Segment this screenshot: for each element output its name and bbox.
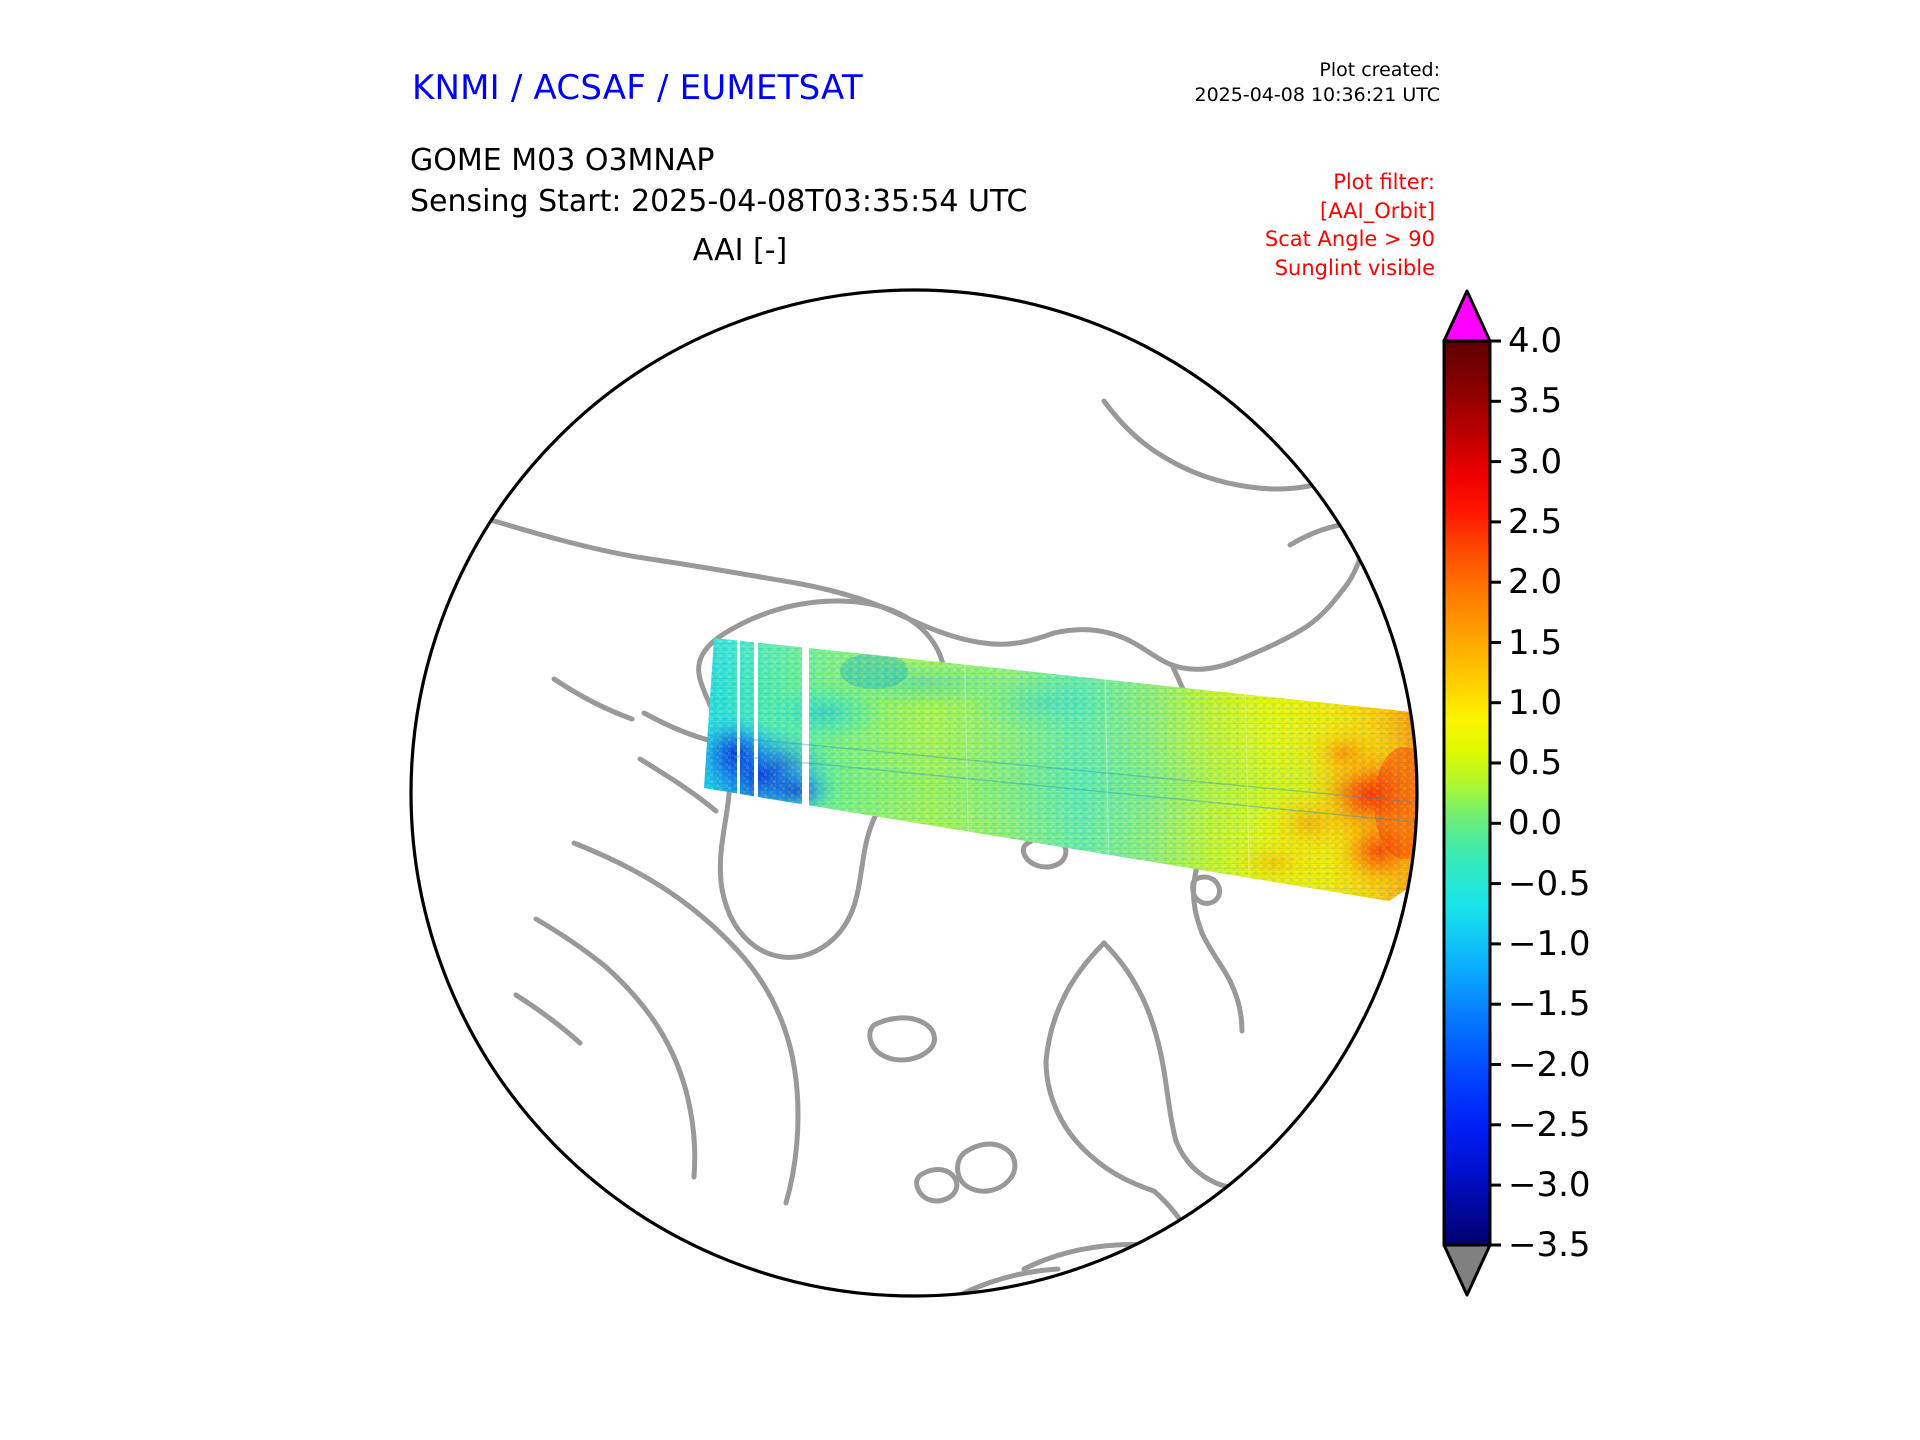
cb-tick: 0.5 [1508, 743, 1562, 783]
plot-created-label: Plot created: [1020, 58, 1440, 83]
plot-filter-label: Plot filter: [1060, 168, 1435, 197]
cb-tick: −2.5 [1508, 1105, 1591, 1145]
cb-tick: 2.0 [1508, 562, 1562, 602]
plot-filter-scat-angle: Scat Angle > 90 [1060, 225, 1435, 254]
sensing-start-title: Sensing Start: 2025-04-08T03:35:54 UTC [410, 181, 1027, 222]
colorbar-tick-labels: 4.0 3.5 3.0 2.5 2.0 1.5 1.0 0.5 0.0 −0.5… [1508, 283, 1638, 1303]
organisation-header: KNMI / ACSAF / EUMETSAT [412, 68, 863, 108]
cb-tick: −3.0 [1508, 1165, 1591, 1205]
cb-tick: 3.5 [1508, 381, 1562, 421]
plot-filter-product: [AAI_Orbit] [1060, 197, 1435, 226]
colorbar-under-arrow [1444, 1245, 1490, 1295]
map-area [404, 283, 1424, 1303]
plot-filter-sunglint: Sunglint visible [1060, 254, 1435, 283]
colorbar-ticks [1490, 341, 1501, 1245]
colorbar-gradient [1444, 341, 1490, 1245]
instrument-title: GOME M03 O3MNAP [410, 140, 1027, 181]
title-block: GOME M03 O3MNAP Sensing Start: 2025-04-0… [410, 140, 1027, 223]
colorbar [1437, 283, 1501, 1303]
cb-tick: 1.0 [1508, 683, 1562, 723]
cb-tick: 2.5 [1508, 502, 1562, 542]
cb-tick: −1.0 [1508, 924, 1591, 964]
colorbar-over-arrow [1444, 291, 1490, 341]
cb-tick: −2.0 [1508, 1045, 1591, 1085]
cb-tick: −1.5 [1508, 984, 1591, 1024]
cb-tick: 4.0 [1508, 321, 1562, 361]
cb-tick: 3.0 [1508, 442, 1562, 482]
plot-created-value: 2025-04-08 10:36:21 UTC [1020, 83, 1440, 108]
cb-tick: −0.5 [1508, 864, 1591, 904]
globe-disc [404, 283, 1424, 1303]
plot-filter-block: Plot filter: [AAI_Orbit] Scat Angle > 90… [1060, 168, 1435, 282]
quantity-title: AAI [-] [410, 233, 1070, 268]
cb-tick: 1.5 [1508, 623, 1562, 663]
cb-tick: 0.0 [1508, 803, 1562, 843]
plot-created-block: Plot created: 2025-04-08 10:36:21 UTC [1020, 58, 1440, 108]
cb-tick: −3.5 [1508, 1225, 1591, 1265]
